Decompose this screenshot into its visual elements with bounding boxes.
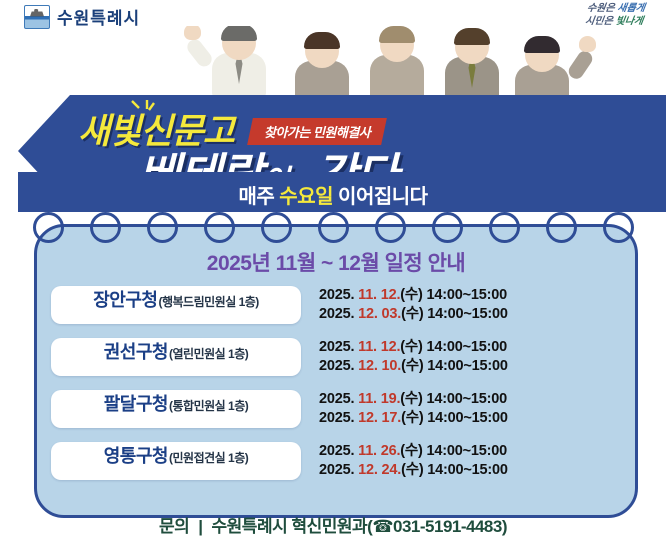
person-2-hair [304,32,340,49]
subtitle-suffix: 이어집니다 [333,186,428,208]
person-4-hair [454,28,490,45]
contact-phone: 031-5191-4483 [393,517,502,536]
schedule-row: 장안구청(행복드림민원실 1층) 2025. 11. 12.(수) 14:00~… [37,283,635,327]
date-year: 2025. [319,287,358,303]
date-rest: (수) 14:00~15:00 [401,410,508,426]
date-month-day: 12. 17. [358,410,401,426]
contact-separator: | [198,517,202,536]
slogan-line2-part-a: 시민은 [584,16,613,27]
ring-icon [318,212,349,243]
person-3 [358,28,436,100]
office-room: (민원접견실 1층) [169,449,248,466]
schedule-rows: 장안구청(행복드림민원실 1층) 2025. 11. 12.(수) 14:00~… [37,283,635,491]
person-5-arm [566,48,595,81]
date-month-day: 11. 12. [358,287,400,303]
subtitle-prefix: 매주 [238,186,279,208]
office-name: 장안구청 [93,286,157,312]
schedule-panel-title: 2025년 11월 ~ 12월 일정 안내 [37,247,635,277]
date-rest: (수) 14:00~15:00 [400,443,507,459]
schedule-row: 팔달구청(통합민원실 1층) 2025. 11. 19.(수) 14:00~15… [37,387,635,431]
schedule-panel: 2025년 11월 ~ 12월 일정 안내 장안구청(행복드림민원실 1층) 2… [34,224,638,518]
person-3-hair [379,26,415,43]
date-month-day: 11. 19. [358,391,400,407]
slogan-line2-part-b: 빛나게 [615,16,644,27]
date-year: 2025. [319,306,358,322]
ring-icon [33,212,64,243]
date-month-day: 12. 03. [358,306,401,322]
date-year: 2025. [319,339,358,355]
person-5 [500,38,584,100]
ring-icon [261,212,292,243]
ring-icon [375,212,406,243]
schedule-date-line: 2025. 11. 12.(수) 14:00~15:00 [319,338,621,357]
office-card: 영통구청(민원접견실 1층) [51,442,301,480]
date-rest: (수) 14:00~15:00 [400,287,507,303]
person-1-hair [221,26,257,41]
date-year: 2025. [319,410,358,426]
contact-footer: 문의|수원특례시 혁신민원과(☎031-5191-4483) [0,512,666,537]
schedule-dates: 2025. 11. 12.(수) 14:00~15:00 2025. 12. 1… [301,338,621,375]
office-name: 팔달구청 [104,390,168,416]
banner-subtitle: 매주 수요일 이어집니다 [0,180,666,209]
date-year: 2025. [319,443,358,459]
office-room: (통합민원실 1층) [169,397,248,414]
person-5-fist [579,36,596,52]
contact-close-paren: ) [502,517,507,536]
person-1-arm [184,37,214,70]
date-year: 2025. [319,391,358,407]
subtitle-highlight: 수요일 [279,186,333,208]
ring-icon [90,212,121,243]
slogan-line1-part-b: 새롭게 [617,3,646,14]
ring-icon [147,212,178,243]
date-month-day: 12. 24. [358,462,401,478]
binder-rings [0,212,666,242]
schedule-date-line: 2025. 12. 03.(수) 14:00~15:00 [319,305,621,324]
contact-department: 수원특례시 혁신민원과( [212,517,373,536]
ring-icon [432,212,463,243]
schedule-date-line: 2025. 12. 24.(수) 14:00~15:00 [319,461,621,480]
person-5-hair [524,36,560,53]
office-room: (열린민원실 1층) [169,345,248,362]
date-rest: (수) 14:00~15:00 [400,339,507,355]
schedule-date-line: 2025. 11. 26.(수) 14:00~15:00 [319,442,621,461]
schedule-date-line: 2025. 12. 10.(수) 14:00~15:00 [319,357,621,376]
schedule-date-line: 2025. 11. 12.(수) 14:00~15:00 [319,286,621,305]
schedule-row: 영통구청(민원접견실 1층) 2025. 11. 26.(수) 14:00~15… [37,439,635,483]
person-2 [284,34,360,100]
slogan-line-1: 수원은 새롭게 [586,3,646,16]
ring-icon [603,212,634,243]
date-month-day: 11. 12. [358,339,400,355]
date-rest: (수) 14:00~15:00 [400,391,507,407]
schedule-date-line: 2025. 11. 19.(수) 14:00~15:00 [319,390,621,409]
date-rest: (수) 14:00~15:00 [401,306,508,322]
office-room: (행복드림민원실 1층) [158,293,258,310]
phone-icon: ☎ [372,517,393,536]
people-illustration [0,26,666,100]
ring-icon [489,212,520,243]
office-card: 권선구청(열린민원실 1층) [51,338,301,376]
slogan-line1-part-a: 수원은 [586,3,615,14]
schedule-dates: 2025. 11. 12.(수) 14:00~15:00 2025. 12. 0… [301,286,621,323]
schedule-dates: 2025. 11. 26.(수) 14:00~15:00 2025. 12. 2… [301,442,621,479]
contact-label: 문의 [159,517,189,536]
date-month-day: 11. 26. [358,443,400,459]
city-slogan: 수원은 새롭게 시민은 빛나게 [584,3,646,28]
person-1 [198,26,280,100]
date-month-day: 12. 10. [358,358,401,374]
schedule-dates: 2025. 11. 19.(수) 14:00~15:00 2025. 12. 1… [301,390,621,427]
date-rest: (수) 14:00~15:00 [401,358,508,374]
office-card: 장안구청(행복드림민원실 1층) [51,286,301,324]
office-name: 권선구청 [104,338,168,364]
office-name: 영통구청 [104,442,168,468]
ring-icon [546,212,577,243]
date-year: 2025. [319,358,358,374]
office-card: 팔달구청(통합민원실 1층) [51,390,301,428]
poster: 수원특례시 수원은 새롭게 시민은 빛나게 [0,0,666,550]
date-rest: (수) 14:00~15:00 [401,462,508,478]
suwon-emblem-icon [24,5,50,29]
person-1-fist [184,26,201,40]
date-year: 2025. [319,462,358,478]
ring-icon [204,212,235,243]
schedule-date-line: 2025. 12. 17.(수) 14:00~15:00 [319,409,621,428]
schedule-row: 권선구청(열린민원실 1층) 2025. 11. 12.(수) 14:00~15… [37,335,635,379]
